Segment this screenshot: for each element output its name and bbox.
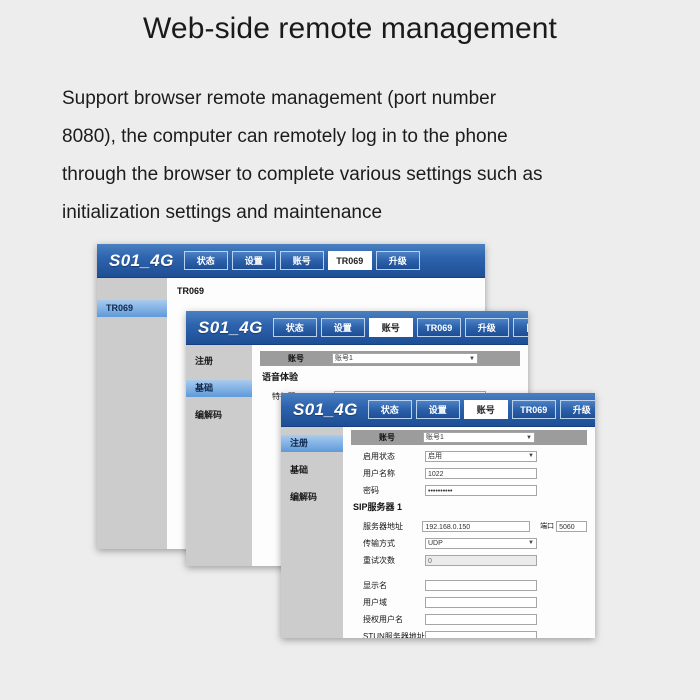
enable-status-select[interactable]: 启用 ▼	[425, 451, 537, 462]
window3-header: S01_4G 状态 设置 账号 TR069 升级 日期	[281, 393, 595, 427]
user-domain-label: 用户域	[351, 597, 425, 608]
account-select[interactable]: 账号1 ▼	[423, 432, 535, 443]
tab-date[interactable]: 日期	[513, 318, 528, 337]
transport-value: UDP	[428, 538, 443, 549]
password-input[interactable]: ••••••••••	[425, 485, 537, 496]
password-label: 密码	[351, 485, 425, 496]
display-name-label: 显示名	[351, 580, 425, 591]
username-input[interactable]: 1022	[425, 468, 537, 479]
account-select[interactable]: 账号1 ▼	[332, 353, 478, 364]
sidebar-item-codec[interactable]: 编解码	[186, 407, 252, 424]
tab-status[interactable]: 状态	[273, 318, 317, 337]
password-row[interactable]: 密码 ••••••••••	[351, 483, 587, 497]
chevron-down-icon: ▼	[526, 435, 532, 441]
brand-logo: S01_4G	[293, 400, 358, 420]
display-name-row[interactable]: 显示名	[351, 578, 587, 592]
window2-tab-bar[interactable]: 状态 设置 账号 TR069 升级 日期	[273, 318, 528, 337]
server-address-label: 服务器地址	[351, 521, 422, 532]
window1-section-title: TR069	[177, 286, 477, 296]
enable-status-row[interactable]: 启用状态 启用 ▼	[351, 449, 587, 463]
window3-content: 账号 账号1 ▼ 启用状态 启用 ▼ 用户名称 1022 密码 •••••••	[343, 427, 595, 638]
window2-header: S01_4G 状态 设置 账号 TR069 升级 日期	[186, 311, 528, 345]
window2-section-title: 语音体验	[262, 370, 520, 383]
brand-logo: S01_4G	[109, 251, 174, 271]
retry-count-row[interactable]: 重试次数 0	[351, 553, 587, 567]
server-address-input[interactable]: 192.168.0.150	[422, 521, 530, 532]
tab-settings[interactable]: 设置	[232, 251, 276, 270]
auth-username-label: 授权用户名	[351, 614, 425, 625]
sidebar-item-basic[interactable]: 基础	[186, 380, 252, 397]
window1-header: S01_4G 状态 设置 账号 TR069 升级	[97, 244, 485, 278]
username-row[interactable]: 用户名称 1022	[351, 466, 587, 480]
enable-status-label: 启用状态	[351, 451, 425, 462]
sidebar-item-register[interactable]: 注册	[281, 435, 343, 452]
sidebar-item-register[interactable]: 注册	[186, 353, 252, 370]
window2-account-row[interactable]: 账号 账号1 ▼	[260, 351, 520, 366]
tab-tr069[interactable]: TR069	[417, 318, 461, 337]
tab-status[interactable]: 状态	[368, 400, 412, 419]
stun-address-label: STUN服务器地址	[351, 631, 425, 639]
user-domain-input[interactable]	[425, 597, 537, 608]
chevron-down-icon: ▼	[528, 540, 534, 546]
transport-label: 传输方式	[351, 538, 425, 549]
tab-status[interactable]: 状态	[184, 251, 228, 270]
description-line-2: 8080), the computer can remotely log in …	[62, 118, 642, 156]
tab-tr069[interactable]: TR069	[512, 400, 556, 419]
window3-tab-bar[interactable]: 状态 设置 账号 TR069 升级 日期	[368, 400, 595, 419]
user-domain-row[interactable]: 用户域	[351, 595, 587, 609]
tab-account[interactable]: 账号	[464, 400, 508, 419]
sidebar-item-tr069[interactable]: TR069	[97, 300, 167, 317]
tab-account[interactable]: 账号	[369, 318, 413, 337]
transport-row[interactable]: 传输方式 UDP ▼	[351, 536, 587, 550]
sidebar-item-basic[interactable]: 基础	[281, 462, 343, 479]
tab-upgrade[interactable]: 升级	[376, 251, 420, 270]
page-title: Web-side remote management	[0, 12, 700, 46]
account-select-value: 账号1	[426, 432, 444, 443]
port-label: 端口	[540, 521, 554, 531]
username-label: 用户名称	[351, 468, 425, 479]
spacer	[351, 570, 587, 578]
auth-username-input[interactable]	[425, 614, 537, 625]
enable-status-value: 启用	[428, 451, 442, 462]
tab-tr069[interactable]: TR069	[328, 251, 372, 270]
window2-sidebar[interactable]: 注册 基础 编解码	[186, 345, 252, 566]
chevron-down-icon: ▼	[528, 453, 534, 459]
retry-count-input[interactable]: 0	[425, 555, 537, 566]
description-line-3: through the browser to complete various …	[62, 156, 642, 194]
transport-select[interactable]: UDP ▼	[425, 538, 537, 549]
window3-account-row[interactable]: 账号 账号1 ▼	[351, 430, 587, 445]
tab-settings[interactable]: 设置	[321, 318, 365, 337]
brand-logo: S01_4G	[198, 318, 263, 338]
retry-count-label: 重试次数	[351, 555, 425, 566]
sip-server-section-title: SIP服务器 1	[353, 500, 587, 513]
window1-tab-bar[interactable]: 状态 设置 账号 TR069 升级	[184, 251, 420, 270]
stun-address-input[interactable]	[425, 631, 537, 639]
page-description: Support browser remote management (port …	[62, 80, 642, 232]
window3-body: 注册 基础 编解码 账号 账号1 ▼ 启用状态 启用 ▼ 用户名称	[281, 427, 595, 638]
chevron-down-icon: ▼	[469, 356, 475, 362]
display-name-input[interactable]	[425, 580, 537, 591]
description-line-1: Support browser remote management (port …	[62, 80, 642, 118]
account-select-value: 账号1	[335, 353, 353, 364]
stun-address-row[interactable]: STUN服务器地址	[351, 629, 587, 638]
tab-upgrade[interactable]: 升级	[465, 318, 509, 337]
server-address-row[interactable]: 服务器地址 192.168.0.150 端口 5060	[351, 519, 587, 533]
sidebar-item-codec[interactable]: 编解码	[281, 489, 343, 506]
window1-sidebar[interactable]: TR069	[97, 278, 167, 549]
account-row-label: 账号	[260, 353, 332, 364]
port-input[interactable]: 5060	[556, 521, 587, 532]
description-line-4: initialization settings and maintenance	[62, 194, 642, 232]
tab-account[interactable]: 账号	[280, 251, 324, 270]
account-row-label: 账号	[351, 432, 423, 443]
window3-sidebar[interactable]: 注册 基础 编解码	[281, 427, 343, 638]
auth-username-row[interactable]: 授权用户名	[351, 612, 587, 626]
router-web-ui-window-account-register[interactable]: S01_4G 状态 设置 账号 TR069 升级 日期 注册 基础 编解码 账号…	[281, 393, 595, 638]
tab-settings[interactable]: 设置	[416, 400, 460, 419]
tab-upgrade[interactable]: 升级	[560, 400, 595, 419]
